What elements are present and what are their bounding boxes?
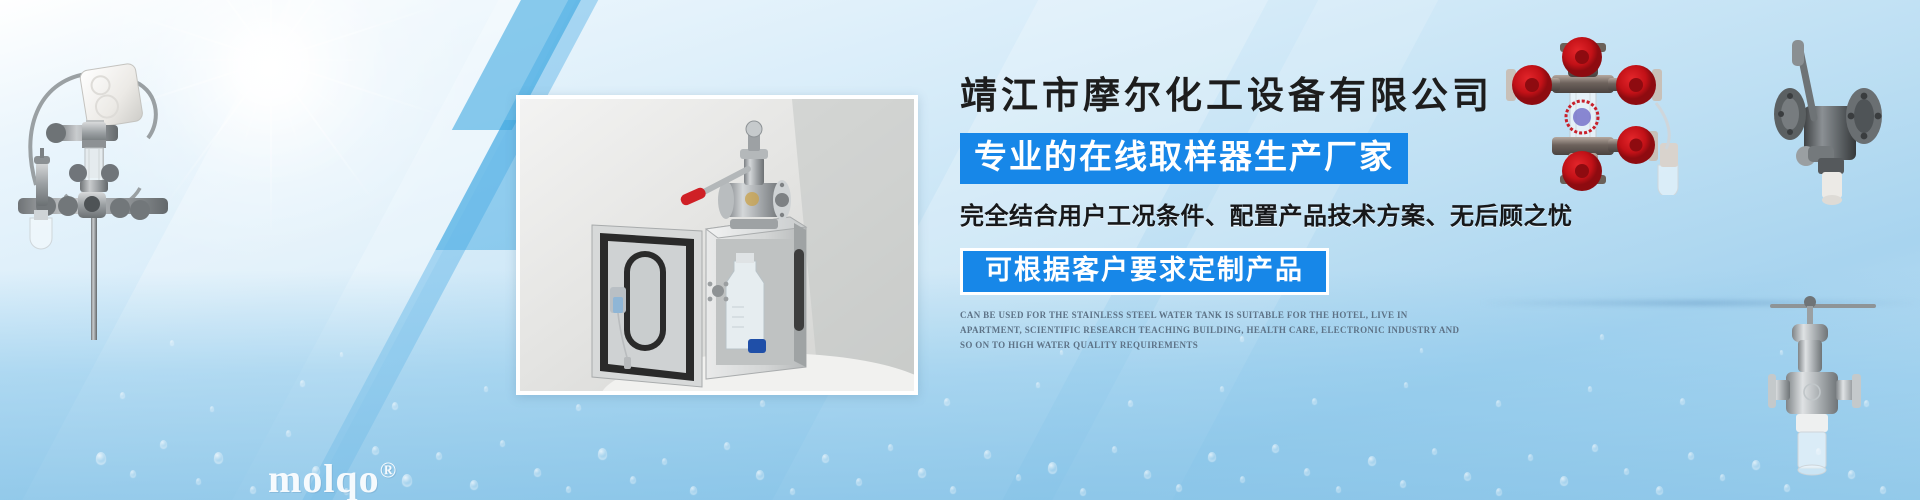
water-droplet (1496, 488, 1502, 495)
water-droplet (500, 440, 505, 446)
watermark-text: molqo (268, 456, 380, 500)
water-droplet (630, 476, 636, 483)
copy-block: 靖江市摩尔化工设备有限公司 专业的在线取样器生产厂家 完全结合用户工况条件、配置… (960, 74, 1700, 353)
water-droplet (856, 478, 862, 485)
water-droplet (1176, 484, 1182, 491)
sun-ray (270, 59, 377, 206)
water-droplet (950, 486, 956, 493)
sun-ray (236, 60, 272, 165)
sun-ray (270, 0, 360, 61)
registered-mark-icon: ® (380, 458, 397, 483)
water-droplet (1304, 468, 1310, 475)
water-droplet (1720, 474, 1725, 480)
lever-valve-image (1752, 18, 1920, 208)
company-name: 靖江市摩尔化工设备有限公司 (960, 74, 1700, 120)
water-droplet (1624, 468, 1629, 474)
water-droplet (340, 352, 343, 356)
sun-ray (270, 59, 360, 125)
water-droplet (1016, 474, 1021, 480)
water-droplet (662, 458, 667, 464)
water-droplet (196, 478, 201, 484)
water-droplet (1128, 400, 1133, 406)
water-droplet (534, 468, 541, 476)
water-droplet (210, 406, 214, 411)
water-droplet (402, 474, 412, 486)
water-droplet (1048, 462, 1057, 473)
water-droplet (1496, 400, 1501, 406)
water-droplet (1208, 452, 1216, 461)
custom-product-badge: 可根据客户要求定制产品 (960, 248, 1329, 295)
water-droplet (160, 440, 167, 448)
water-droplet (436, 452, 442, 459)
water-droplet (918, 468, 926, 477)
water-droplet (250, 486, 256, 493)
water-droplet (1432, 448, 1437, 454)
sun-ray (270, 60, 272, 240)
center-product-image (516, 95, 918, 395)
sun-ray (270, 60, 306, 165)
water-droplet (1784, 484, 1790, 491)
water-droplet (756, 470, 764, 479)
water-droplet (470, 480, 478, 489)
water-droplet (1752, 460, 1760, 469)
water-droplet (214, 452, 223, 463)
water-droplet (1404, 382, 1408, 387)
water-droplet (822, 454, 829, 462)
water-droplet (1880, 486, 1886, 493)
water-droplet (1464, 472, 1471, 480)
water-droplet (888, 444, 893, 450)
water-droplet (1272, 444, 1279, 452)
water-droplet (392, 402, 398, 409)
sun-ray (270, 0, 377, 61)
product-banner: 靖江市摩尔化工设备有限公司 专业的在线取样器生产厂家 完全结合用户工况条件、配置… (0, 0, 1920, 500)
water-droplet (1312, 398, 1317, 404)
bottom-valve-image (1768, 282, 1920, 482)
sun-ray (270, 0, 306, 60)
water-droplet (984, 450, 991, 458)
water-droplet (170, 340, 174, 345)
tagline-badge: 专业的在线取样器生产厂家 (960, 133, 1408, 184)
water-droplet (1688, 452, 1694, 459)
water-droplet (690, 486, 697, 494)
water-droplet (1080, 488, 1086, 495)
water-droplet (1144, 470, 1151, 478)
water-droplet (598, 448, 607, 459)
water-droplet (1220, 386, 1224, 391)
water-droplet (760, 400, 765, 406)
water-droplet (96, 452, 106, 464)
subline-text: 完全结合用户工况条件、配置产品技术方案、无后顾之忧 (960, 201, 1700, 232)
sun-ray (271, 59, 381, 61)
left-product-image (0, 10, 220, 340)
water-droplet (790, 488, 795, 494)
water-droplet (1656, 486, 1663, 494)
water-droplet (576, 404, 581, 410)
water-droplet (944, 398, 950, 405)
english-description: CAN BE USED FOR THE STAINLESS STEEL WATE… (960, 308, 1460, 353)
water-droplet (724, 442, 730, 449)
water-droplet (1336, 486, 1341, 492)
water-droplet (1528, 454, 1533, 460)
water-droplet (484, 386, 488, 391)
water-droplet (1036, 382, 1040, 387)
water-droplet (1240, 476, 1245, 482)
sun-ray (236, 0, 272, 60)
brand-watermark: molqo® (268, 455, 397, 500)
water-droplet (130, 470, 136, 477)
water-droplet (300, 380, 305, 386)
sun-ray (271, 3, 443, 61)
sun-ray (271, 59, 443, 117)
water-droplet (1592, 444, 1598, 451)
water-droplet (1112, 446, 1117, 452)
water-droplet (1588, 386, 1592, 391)
water-droplet (566, 486, 571, 492)
water-droplet (1368, 456, 1376, 465)
water-droplet (1680, 398, 1685, 404)
water-droplet (372, 446, 379, 454)
sun-ray (270, 0, 272, 60)
water-droplet (120, 392, 125, 398)
water-droplet (286, 430, 291, 436)
water-droplet (1400, 480, 1406, 487)
water-droplet (1560, 476, 1568, 485)
